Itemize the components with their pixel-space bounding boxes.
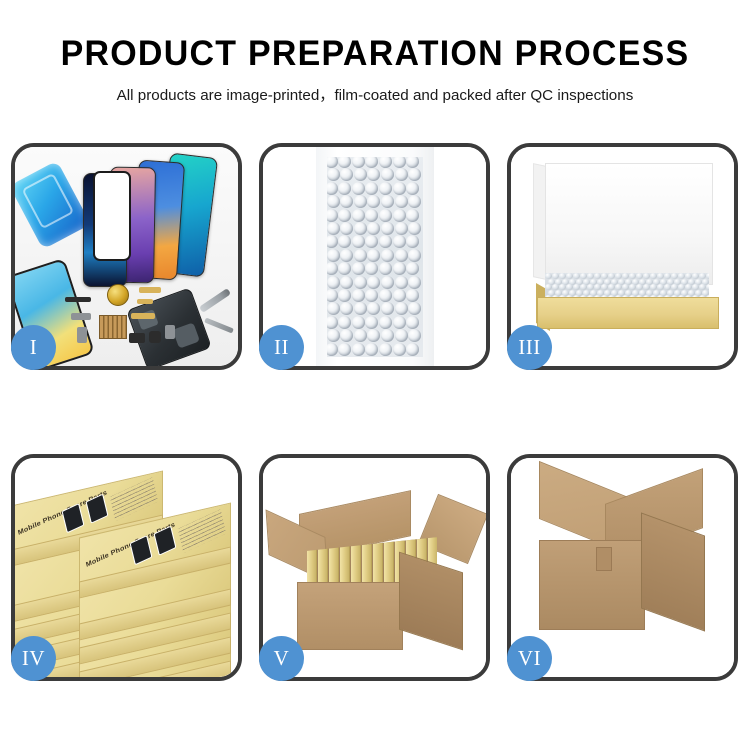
bubble-cell: [381, 195, 394, 208]
bubble-cell: [365, 316, 378, 329]
screen-protector-icon: [93, 171, 131, 261]
bubble-cell: [340, 168, 353, 181]
bubble-cell: [354, 276, 367, 289]
page-subtitle: All products are image-printed，film-coat…: [0, 83, 750, 105]
bubble-cell: [381, 329, 394, 342]
bubble-cell: [406, 235, 419, 248]
bubble-cell: [379, 209, 392, 222]
step-panel-1[interactable]: I: [11, 143, 242, 370]
bubble-cell: [327, 235, 338, 248]
step-badge-3: III: [507, 325, 552, 370]
bubble-cell: [354, 195, 367, 208]
carton-tape-icon: [596, 547, 612, 571]
tray-front-panel: [537, 297, 719, 329]
bubble-cell: [406, 343, 419, 356]
tray-bubble-wrap-icon: [545, 273, 709, 299]
bubble-cell: [338, 182, 351, 195]
bubble-cell: [367, 329, 380, 342]
bubble-cell: [340, 302, 353, 315]
flex-cable-icon-2: [137, 299, 153, 304]
speaker-part-icon: [107, 284, 129, 306]
bubble-cell: [406, 262, 419, 275]
bubble-cell: [340, 249, 353, 262]
bubble-cell: [352, 157, 365, 168]
bubble-cell: [408, 222, 421, 235]
bubble-cell: [338, 316, 351, 329]
bubble-cell: [338, 289, 351, 302]
bubble-cell: [395, 302, 408, 315]
bubble-cell: [327, 276, 340, 289]
bubble-cell: [395, 168, 408, 181]
bubble-cell: [379, 157, 392, 168]
step-panel-4[interactable]: Mobile Phone Spare Parts Mobile Phone Sp…: [11, 454, 242, 681]
bubble-cell: [327, 329, 340, 342]
bubble-cell: [406, 182, 419, 195]
bubble-cell: [365, 262, 378, 275]
bubble-cell: [379, 316, 392, 329]
bubble-cell: [352, 289, 365, 302]
step-panel-6[interactable]: VI: [507, 454, 738, 681]
bubble-cell: [379, 289, 392, 302]
bubble-cell: [367, 249, 380, 262]
kraft-tray-icon: [537, 273, 717, 329]
bubble-cell: [327, 316, 338, 329]
bubble-cell: [352, 209, 365, 222]
bubble-cell: [408, 302, 421, 315]
tray-bubble-cell: [706, 273, 709, 279]
bubble-cell: [393, 209, 406, 222]
bubble-cell: [327, 168, 340, 181]
bubble-cell: [381, 222, 394, 235]
bubble-cell: [354, 222, 367, 235]
bubble-cell: [395, 195, 408, 208]
bubble-cell: [352, 182, 365, 195]
bubble-cell: [379, 235, 392, 248]
bubble-cell: [367, 222, 380, 235]
bubble-cell: [352, 316, 365, 329]
bubble-cell: [406, 316, 419, 329]
bubble-cell: [340, 195, 353, 208]
bubble-cell: [327, 343, 338, 356]
bubble-cell: [365, 157, 378, 168]
bracket-part-icon-1: [71, 313, 91, 320]
bubble-cell: [327, 182, 338, 195]
bubble-cell: [327, 289, 338, 302]
bubble-cell: [395, 276, 408, 289]
bubble-cell: [327, 209, 338, 222]
step-panel-2[interactable]: II: [259, 143, 490, 370]
bubble-cell: [340, 276, 353, 289]
bubble-cell: [327, 302, 340, 315]
step-panel-3[interactable]: III: [507, 143, 738, 370]
bubble-cell: [408, 329, 421, 342]
bubble-cell: [381, 302, 394, 315]
page-header: PRODUCT PREPARATION PROCESS All products…: [0, 0, 750, 105]
page-title: PRODUCT PREPARATION PROCESS: [11, 34, 739, 74]
flex-cable-icon-3: [131, 313, 155, 319]
step-badge-2: II: [259, 325, 304, 370]
box-spec-lines: [178, 509, 227, 553]
step-badge-5: V: [259, 636, 304, 681]
battery-part-icon: [165, 325, 175, 339]
bubble-cell: [365, 182, 378, 195]
step-badge-6: VI: [507, 636, 552, 681]
bubble-cell: [393, 343, 406, 356]
bubble-cell: [367, 168, 380, 181]
step-badge-4: IV: [11, 636, 56, 681]
bubble-cell: [352, 343, 365, 356]
bubble-cell: [352, 235, 365, 248]
bubble-cell: [367, 302, 380, 315]
bubble-wrap-icon: [327, 157, 423, 357]
step-panel-5[interactable]: V: [259, 454, 490, 681]
bubble-cell: [365, 235, 378, 248]
bubble-cell: [354, 168, 367, 181]
bubble-cell: [381, 249, 394, 262]
box-lid-icon: [545, 163, 713, 285]
bubble-cell: [395, 222, 408, 235]
bubble-cell: [365, 289, 378, 302]
bubble-cell: [393, 235, 406, 248]
bubble-cell: [338, 343, 351, 356]
bubble-cell: [406, 209, 419, 222]
bubble-cell: [365, 209, 378, 222]
bubble-cell: [393, 289, 406, 302]
bubble-cell: [379, 262, 392, 275]
chip-board-icon: [99, 315, 127, 339]
bubble-cell: [367, 276, 380, 289]
bubble-cell: [408, 249, 421, 262]
carton-front-panel: [297, 582, 403, 650]
bubble-cell: [393, 182, 406, 195]
bubble-cell: [379, 182, 392, 195]
flex-cable-icon-1: [139, 287, 161, 293]
bubble-cell: [395, 329, 408, 342]
bubble-cell: [354, 329, 367, 342]
earpiece-part-icon: [65, 297, 91, 302]
bubble-cell: [340, 222, 353, 235]
bubble-cell: [379, 343, 392, 356]
bubble-cell: [381, 276, 394, 289]
motor-part-icon: [149, 331, 161, 343]
bubble-cell: [393, 262, 406, 275]
bubble-cell: [327, 262, 338, 275]
bubble-cell: [327, 195, 340, 208]
bubble-cell: [338, 235, 351, 248]
bubble-cell: [406, 289, 419, 302]
bubble-cell: [338, 262, 351, 275]
bubble-cell: [393, 157, 406, 168]
bubble-cell: [354, 302, 367, 315]
bubble-cell: [408, 195, 421, 208]
bubble-cell: [352, 262, 365, 275]
bubble-cell: [408, 168, 421, 181]
box-spec-lines: [110, 477, 159, 521]
bubble-cell: [408, 276, 421, 289]
sealed-carton-front-panel: [539, 540, 645, 630]
step-badge-1: I: [11, 325, 56, 370]
bubble-cell: [365, 343, 378, 356]
bubble-cell: [327, 222, 340, 235]
steps-grid: I II III: [11, 143, 739, 681]
bubble-cell: [406, 157, 419, 168]
bubble-cell: [338, 157, 351, 168]
bubble-cell: [395, 249, 408, 262]
bubble-cell: [367, 195, 380, 208]
bubble-cell: [381, 168, 394, 181]
bubble-cell: [327, 249, 340, 262]
bracket-part-icon-2: [77, 327, 87, 343]
bubble-cell: [393, 316, 406, 329]
bubble-cell: [340, 329, 353, 342]
camera-part-icon: [129, 333, 145, 343]
bubble-cell: [338, 209, 351, 222]
bubble-cell: [327, 157, 338, 168]
bubble-cell: [354, 249, 367, 262]
